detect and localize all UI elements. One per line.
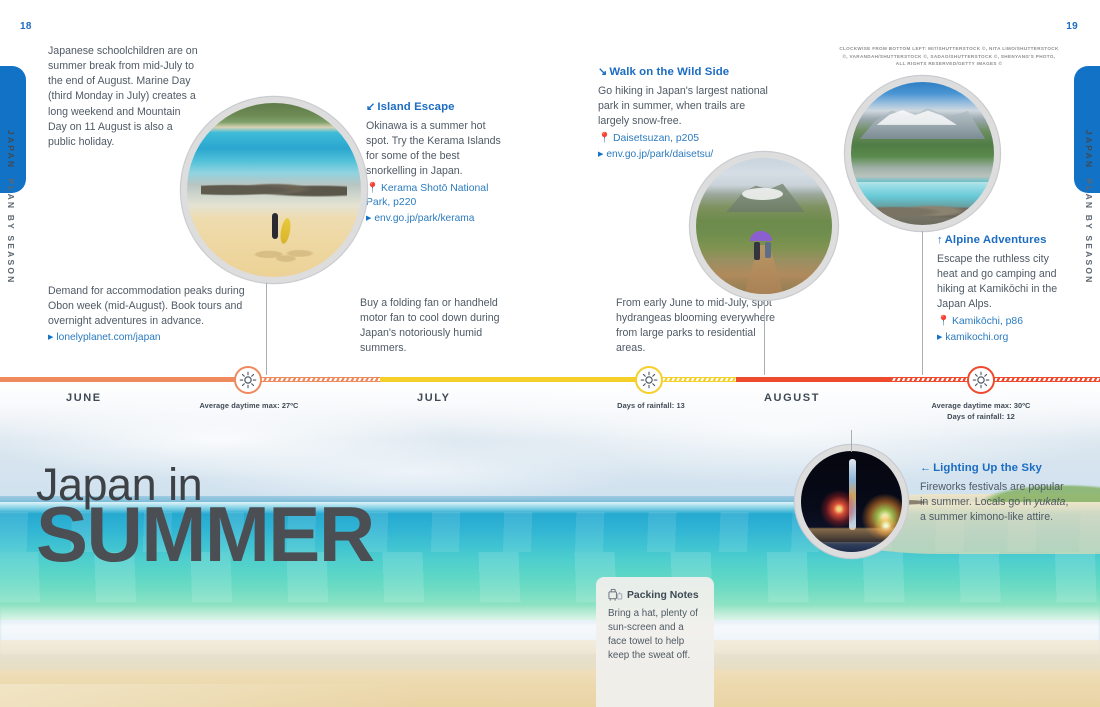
edge-label-right-strong: JAPAN xyxy=(1084,130,1094,169)
note-accommodation: Demand for accommodation peaks during Ob… xyxy=(48,284,253,345)
spread-page: 18 19 JAPAN PLAN BY SEASON JAPAN PLAN BY… xyxy=(0,0,1100,707)
photo-fireworks-image xyxy=(801,451,902,552)
sun-marker-june xyxy=(234,366,262,394)
timeline-month-july: JULY xyxy=(417,392,451,404)
feature-alpine-adventures: ↑Alpine Adventures Escape the ruthless c… xyxy=(937,232,1067,345)
photo-kamikochi xyxy=(845,76,1000,231)
season-timeline-july-overlay xyxy=(0,374,1100,386)
page-title: Japan in SUMMER xyxy=(36,464,374,571)
feature-island-escape-place-label: Kerama Shotō National Park, p220 xyxy=(366,183,488,208)
stat-july: Days of rainfall: 13 xyxy=(586,401,716,412)
note-fan: Buy a folding fan or handheld motor fan … xyxy=(360,296,510,357)
triangle-bullet-icon: ▶ xyxy=(598,151,603,158)
photo-daisetsuzan-image xyxy=(696,158,832,294)
note-hydrangeas-text: From early June to mid-July, spot hydran… xyxy=(616,296,776,357)
feature-walk-wild-side-title: Walk on the Wild Side xyxy=(609,66,729,78)
page-number-left: 18 xyxy=(20,21,32,32)
feature-island-escape-title: Island Escape xyxy=(377,101,454,113)
sand-highlight xyxy=(0,684,420,707)
stat-june-line-1: Average daytime max: 27ºC xyxy=(184,401,314,412)
feature-alpine-adventures-place-label: Kamikōchi, p86 xyxy=(952,316,1023,327)
feature-island-escape: ↙Island Escape Okinawa is a summer hot s… xyxy=(366,99,508,226)
stat-july-line-1: Days of rainfall: 13 xyxy=(586,401,716,412)
note-schoolchildren-text: Japanese schoolchildren are on summer br… xyxy=(48,44,198,150)
stat-august-line-1: Average daytime max: 30ºC xyxy=(916,401,1046,412)
link-lonelyplanet-label: lonelyplanet.com/japan xyxy=(56,332,160,343)
photo-fireworks xyxy=(795,445,908,558)
timeline-segment-july-main xyxy=(380,377,646,382)
map-pin-icon: 📍 xyxy=(598,133,611,144)
connector-line-kamikochi xyxy=(922,231,923,375)
feature-alpine-adventures-place: 📍Kamikōchi, p86 xyxy=(937,315,1067,329)
feature-walk-wild-side-place-label: Daisetsuzan, p205 xyxy=(613,133,699,144)
feature-island-escape-body: Okinawa is a summer hot spot. Try the Ke… xyxy=(366,119,508,180)
footprints xyxy=(248,246,318,267)
sun-marker-august xyxy=(967,366,995,394)
feature-lighting-up-the-sky: ←Lighting Up the Sky Fireworks festivals… xyxy=(920,460,1072,525)
note-schoolchildren: Japanese schoolchildren are on summer br… xyxy=(48,44,198,150)
arrow-left-icon: ← xyxy=(920,461,931,477)
surfboard xyxy=(279,217,292,244)
feature-walk-wild-side: ↘Walk on the Wild Side Go hiking in Japa… xyxy=(598,64,773,162)
edge-label-left-rest: PLAN BY SEASON xyxy=(6,178,16,284)
photo-credits: CLOCKWISE FROM BOTTOM LEFT: MI7/SHUTTERS… xyxy=(838,45,1060,68)
photo-kamikochi-image xyxy=(851,82,994,225)
link-lonelyplanet[interactable]: ▶lonelyplanet.com/japan xyxy=(48,331,253,345)
photo-okinawa-beach xyxy=(181,97,367,283)
surfer-figure xyxy=(272,213,278,239)
feature-island-escape-link[interactable]: ▶env.go.jp/park/kerama xyxy=(366,212,508,226)
connector-line-daisetsuzan xyxy=(764,300,765,375)
feature-walk-wild-side-heading: ↘Walk on the Wild Side xyxy=(598,64,773,81)
triangle-bullet-icon: ▶ xyxy=(366,215,371,222)
feature-lighting-up-the-sky-body: Fireworks festivals are popular in summe… xyxy=(920,480,1072,525)
feature-alpine-adventures-body: Escape the ruthless city heat and go cam… xyxy=(937,252,1067,313)
feature-lighting-up-the-sky-heading: ←Lighting Up the Sky xyxy=(920,460,1072,477)
beach-rocks xyxy=(201,180,347,201)
river-stones xyxy=(865,202,979,222)
sun-icon xyxy=(640,371,658,389)
feature-walk-wild-side-body: Go hiking in Japan's largest national pa… xyxy=(598,84,773,129)
note-hydrangeas: From early June to mid-July, spot hydran… xyxy=(616,296,776,357)
feature-alpine-adventures-link[interactable]: ▶kamikochi.org xyxy=(937,331,1067,345)
purple-umbrella xyxy=(750,231,772,241)
edge-label-right-rest: PLAN BY SEASON xyxy=(1084,178,1094,284)
feature-island-escape-heading: ↙Island Escape xyxy=(366,99,508,116)
stat-june: Average daytime max: 27ºC xyxy=(184,401,314,412)
hiker-two xyxy=(765,242,771,258)
connector-line-okinawa xyxy=(266,283,267,375)
stat-august-line-2: Days of rainfall: 12 xyxy=(916,412,1046,423)
feature-island-escape-link-label: env.go.jp/park/kerama xyxy=(374,213,474,224)
feature-walk-wild-side-place: 📍Daisetsuzan, p205 xyxy=(598,132,773,146)
map-pin-icon: 📍 xyxy=(937,316,950,327)
arrow-up-icon: ↑ xyxy=(937,233,943,249)
feature-lighting-up-the-sky-title: Lighting Up the Sky xyxy=(933,462,1042,474)
page-title-line-2: SUMMER xyxy=(36,499,374,571)
body-emphasis: yukata xyxy=(1034,496,1065,508)
hiking-trail xyxy=(737,245,791,294)
photo-okinawa-beach-image xyxy=(187,103,361,277)
hiker-one xyxy=(754,242,760,260)
sun-icon xyxy=(239,371,257,389)
packing-notes-card: Packing Notes Bring a hat, plenty of sun… xyxy=(596,577,714,707)
snow-patch xyxy=(742,188,783,200)
connector-line-fireworks xyxy=(851,430,852,452)
feature-walk-wild-side-link-label: env.go.jp/park/daisetsu/ xyxy=(606,149,713,160)
photo-daisetsuzan xyxy=(690,152,838,300)
edge-label-left-strong: JAPAN xyxy=(6,130,16,169)
timeline-month-june: JUNE xyxy=(66,392,102,404)
feature-island-escape-place: 📍Kerama Shotō National Park, p220 xyxy=(366,182,508,210)
page-number-right: 19 xyxy=(1066,21,1078,32)
sun-icon xyxy=(972,371,990,389)
triangle-bullet-icon: ▶ xyxy=(48,334,53,341)
triangle-bullet-icon: ▶ xyxy=(937,334,942,341)
map-pin-icon: 📍 xyxy=(366,183,379,194)
suitcase-icon xyxy=(608,588,623,602)
sun-marker-july xyxy=(635,366,663,394)
arrow-down-left-icon: ↙ xyxy=(366,100,375,116)
feature-alpine-adventures-link-label: kamikochi.org xyxy=(945,332,1008,343)
packing-notes-body: Bring a hat, plenty of sun-screen and a … xyxy=(608,607,702,663)
feature-alpine-adventures-title: Alpine Adventures xyxy=(945,234,1047,246)
note-fan-text: Buy a folding fan or handheld motor fan … xyxy=(360,296,510,357)
packing-notes-title-row: Packing Notes xyxy=(608,588,702,602)
feature-alpine-adventures-heading: ↑Alpine Adventures xyxy=(937,232,1067,249)
arrow-down-right-icon: ↘ xyxy=(598,65,607,81)
packing-notes-title: Packing Notes xyxy=(627,590,699,601)
river-reflection xyxy=(801,542,902,552)
note-accommodation-text: Demand for accommodation peaks during Ob… xyxy=(48,284,253,329)
stat-august: Average daytime max: 30ºC Days of rainfa… xyxy=(916,401,1046,422)
timeline-month-august: AUGUST xyxy=(764,392,820,404)
